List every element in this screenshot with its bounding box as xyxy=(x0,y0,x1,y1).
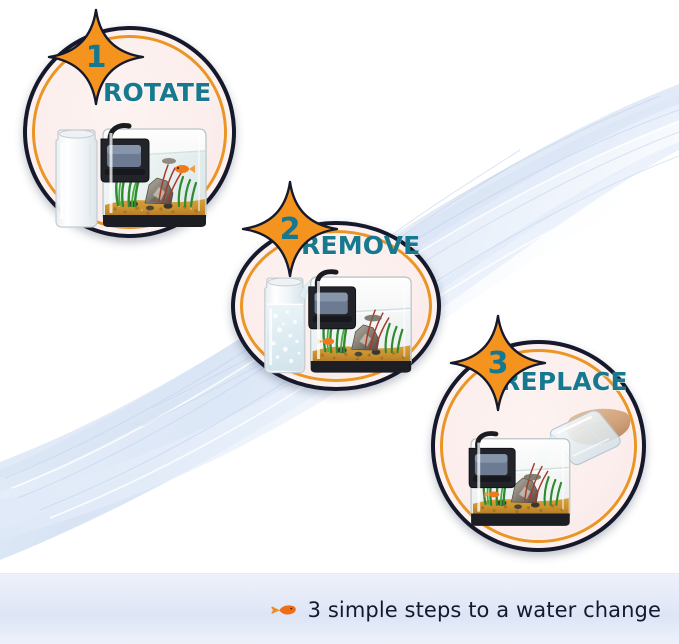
four-point-star-icon xyxy=(449,314,547,412)
step-star-1: 1 xyxy=(47,8,145,106)
footer-caption-group: 3 simple steps to a water change xyxy=(269,574,661,644)
four-point-star-icon xyxy=(241,180,339,278)
step-badge-1[interactable]: ROTATE 1 xyxy=(23,26,236,238)
four-point-star-icon xyxy=(47,8,145,106)
aquarium-rotate-icon xyxy=(49,109,213,236)
footer-bar: 3 simple steps to a water change xyxy=(0,573,679,644)
fish-icon xyxy=(269,602,297,618)
step-badge-2[interactable]: REMOVE 2 xyxy=(231,221,441,391)
step-badge-3[interactable]: REPLACE 3 xyxy=(431,340,646,552)
aquarium-replace-icon xyxy=(450,400,632,535)
footer-caption: 3 simple steps to a water change xyxy=(308,598,661,622)
step-star-2: 2 xyxy=(241,180,339,278)
promo-infographic: ROTATE 1 xyxy=(0,0,679,644)
step-star-3: 3 xyxy=(449,314,547,412)
